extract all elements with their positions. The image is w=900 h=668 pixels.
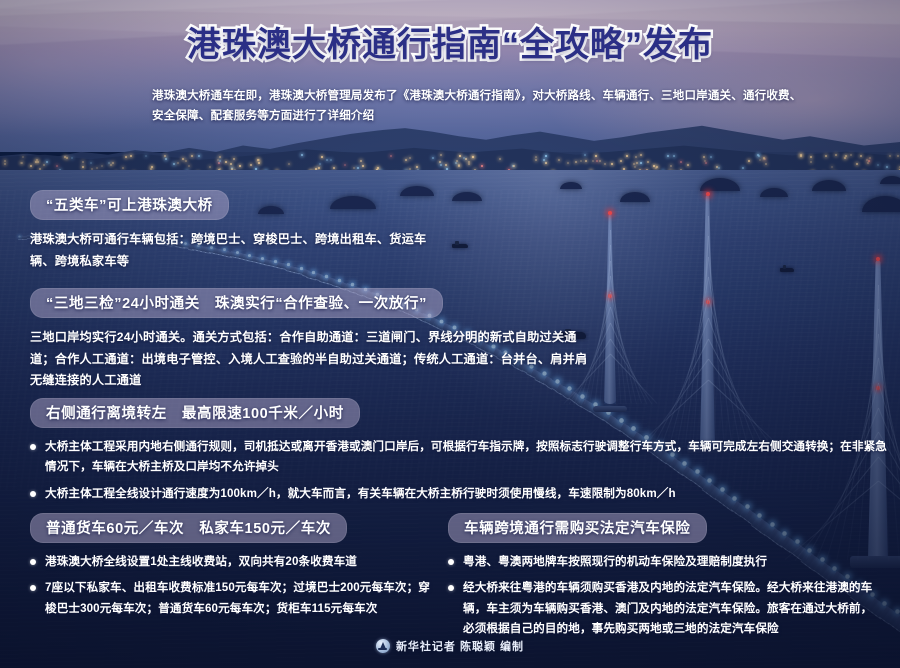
credit-line: 新华社记者 陈聪颖 编制	[0, 638, 900, 654]
credit-text: 新华社记者 陈聪颖 编制	[396, 638, 524, 654]
section-driving-rules: 右侧通行离境转左 最高限速100千米／小时 大桥主体工程采用内地右侧通行规则，司…	[30, 398, 890, 510]
section-body: 大桥主体工程采用内地右侧通行规则，司机抵达或离开香港或澳门口岸后，可根据行车指示…	[30, 437, 890, 504]
section-vehicle-types: “五类车”可上港珠澳大桥 港珠澳大桥可通行车辆包括：跨境巴士、穿梭巴士、跨境出租…	[30, 190, 450, 272]
section-heading: “三地三检”24小时通关 珠澳实行“合作查验、一次放行”	[30, 288, 443, 318]
bullet-list: 大桥主体工程采用内地右侧通行规则，司机抵达或离开香港或澳门口岸后，可根据行车指示…	[30, 437, 890, 504]
section-heading: 车辆跨境通行需购买法定汽车保险	[448, 513, 707, 543]
list-item: 大桥主体工程采用内地右侧通行规则，司机抵达或离开香港或澳门口岸后，可根据行车指示…	[30, 437, 890, 478]
section-tolls: 普通货车60元／车次 私家车150元／车次 港珠澳大桥全线设置1处主线收费站，双…	[30, 513, 440, 625]
list-item: 港珠澳大桥全线设置1处主线收费站，双向共有20条收费车道	[30, 552, 440, 572]
xinhua-logo-icon	[376, 639, 390, 653]
infographic-poster: 港珠澳大桥通行指南“全攻略”发布 港珠澳大桥通车在即，港珠澳大桥管理局发布了《港…	[0, 0, 900, 668]
section-body: 港珠澳大桥可通行车辆包括：跨境巴士、穿梭巴士、跨境出租车、货运车辆、跨境私家车等	[30, 229, 450, 272]
list-item: 7座以下私家车、出租车收费标准150元每车次；过境巴士200元每车次；穿梭巴士3…	[30, 578, 440, 619]
section-heading: 右侧通行离境转左 最高限速100千米／小时	[30, 398, 360, 428]
list-item: 粤港、粤澳两地牌车按照现行的机动车保险及理赔制度执行	[448, 552, 878, 572]
section-body: 粤港、粤澳两地牌车按照现行的机动车保险及理赔制度执行 经大桥来往粤港的车辆须购买…	[448, 552, 878, 639]
section-body: 港珠澳大桥全线设置1处主线收费站，双向共有20条收费车道 7座以下私家车、出租车…	[30, 552, 440, 619]
section-paragraph: 三地口岸均实行24小时通关。通关方式包括：合作自助通道：三道闸门、界线分明的新式…	[30, 327, 590, 392]
list-item: 经大桥来往粤港的车辆须购买香港及内地的法定汽车保险。经大桥来往港澳的车辆，车主须…	[448, 578, 878, 639]
section-customs-clearance: “三地三检”24小时通关 珠澳实行“合作查验、一次放行” 三地口岸均实行24小时…	[30, 288, 590, 392]
poster-content: 港珠澳大桥通行指南“全攻略”发布 港珠澳大桥通车在即，港珠澳大桥管理局发布了《港…	[0, 0, 900, 668]
section-paragraph: 港珠澳大桥可通行车辆包括：跨境巴士、穿梭巴士、跨境出租车、货运车辆、跨境私家车等	[30, 229, 450, 272]
title-container: 港珠澳大桥通行指南“全攻略”发布	[0, 26, 900, 65]
section-heading: “五类车”可上港珠澳大桥	[30, 190, 229, 220]
bullet-list: 港珠澳大桥全线设置1处主线收费站，双向共有20条收费车道 7座以下私家车、出租车…	[30, 552, 440, 619]
page-title: 港珠澳大桥通行指南“全攻略”发布	[187, 26, 713, 65]
section-insurance: 车辆跨境通行需购买法定汽车保险 粤港、粤澳两地牌车按照现行的机动车保险及理赔制度…	[448, 513, 878, 645]
bullet-list: 粤港、粤澳两地牌车按照现行的机动车保险及理赔制度执行 经大桥来往粤港的车辆须购买…	[448, 552, 878, 639]
section-heading: 普通货车60元／车次 私家车150元／车次	[30, 513, 347, 543]
list-item: 大桥主体工程全线设计通行速度为100km／h，就大车而言，有关车辆在大桥主桥行驶…	[30, 484, 890, 504]
page-subtitle: 港珠澳大桥通车在即，港珠澳大桥管理局发布了《港珠澳大桥通行指南》，对大桥路线、车…	[152, 86, 812, 126]
section-body: 三地口岸均实行24小时通关。通关方式包括：合作自助通道：三道闸门、界线分明的新式…	[30, 327, 590, 392]
